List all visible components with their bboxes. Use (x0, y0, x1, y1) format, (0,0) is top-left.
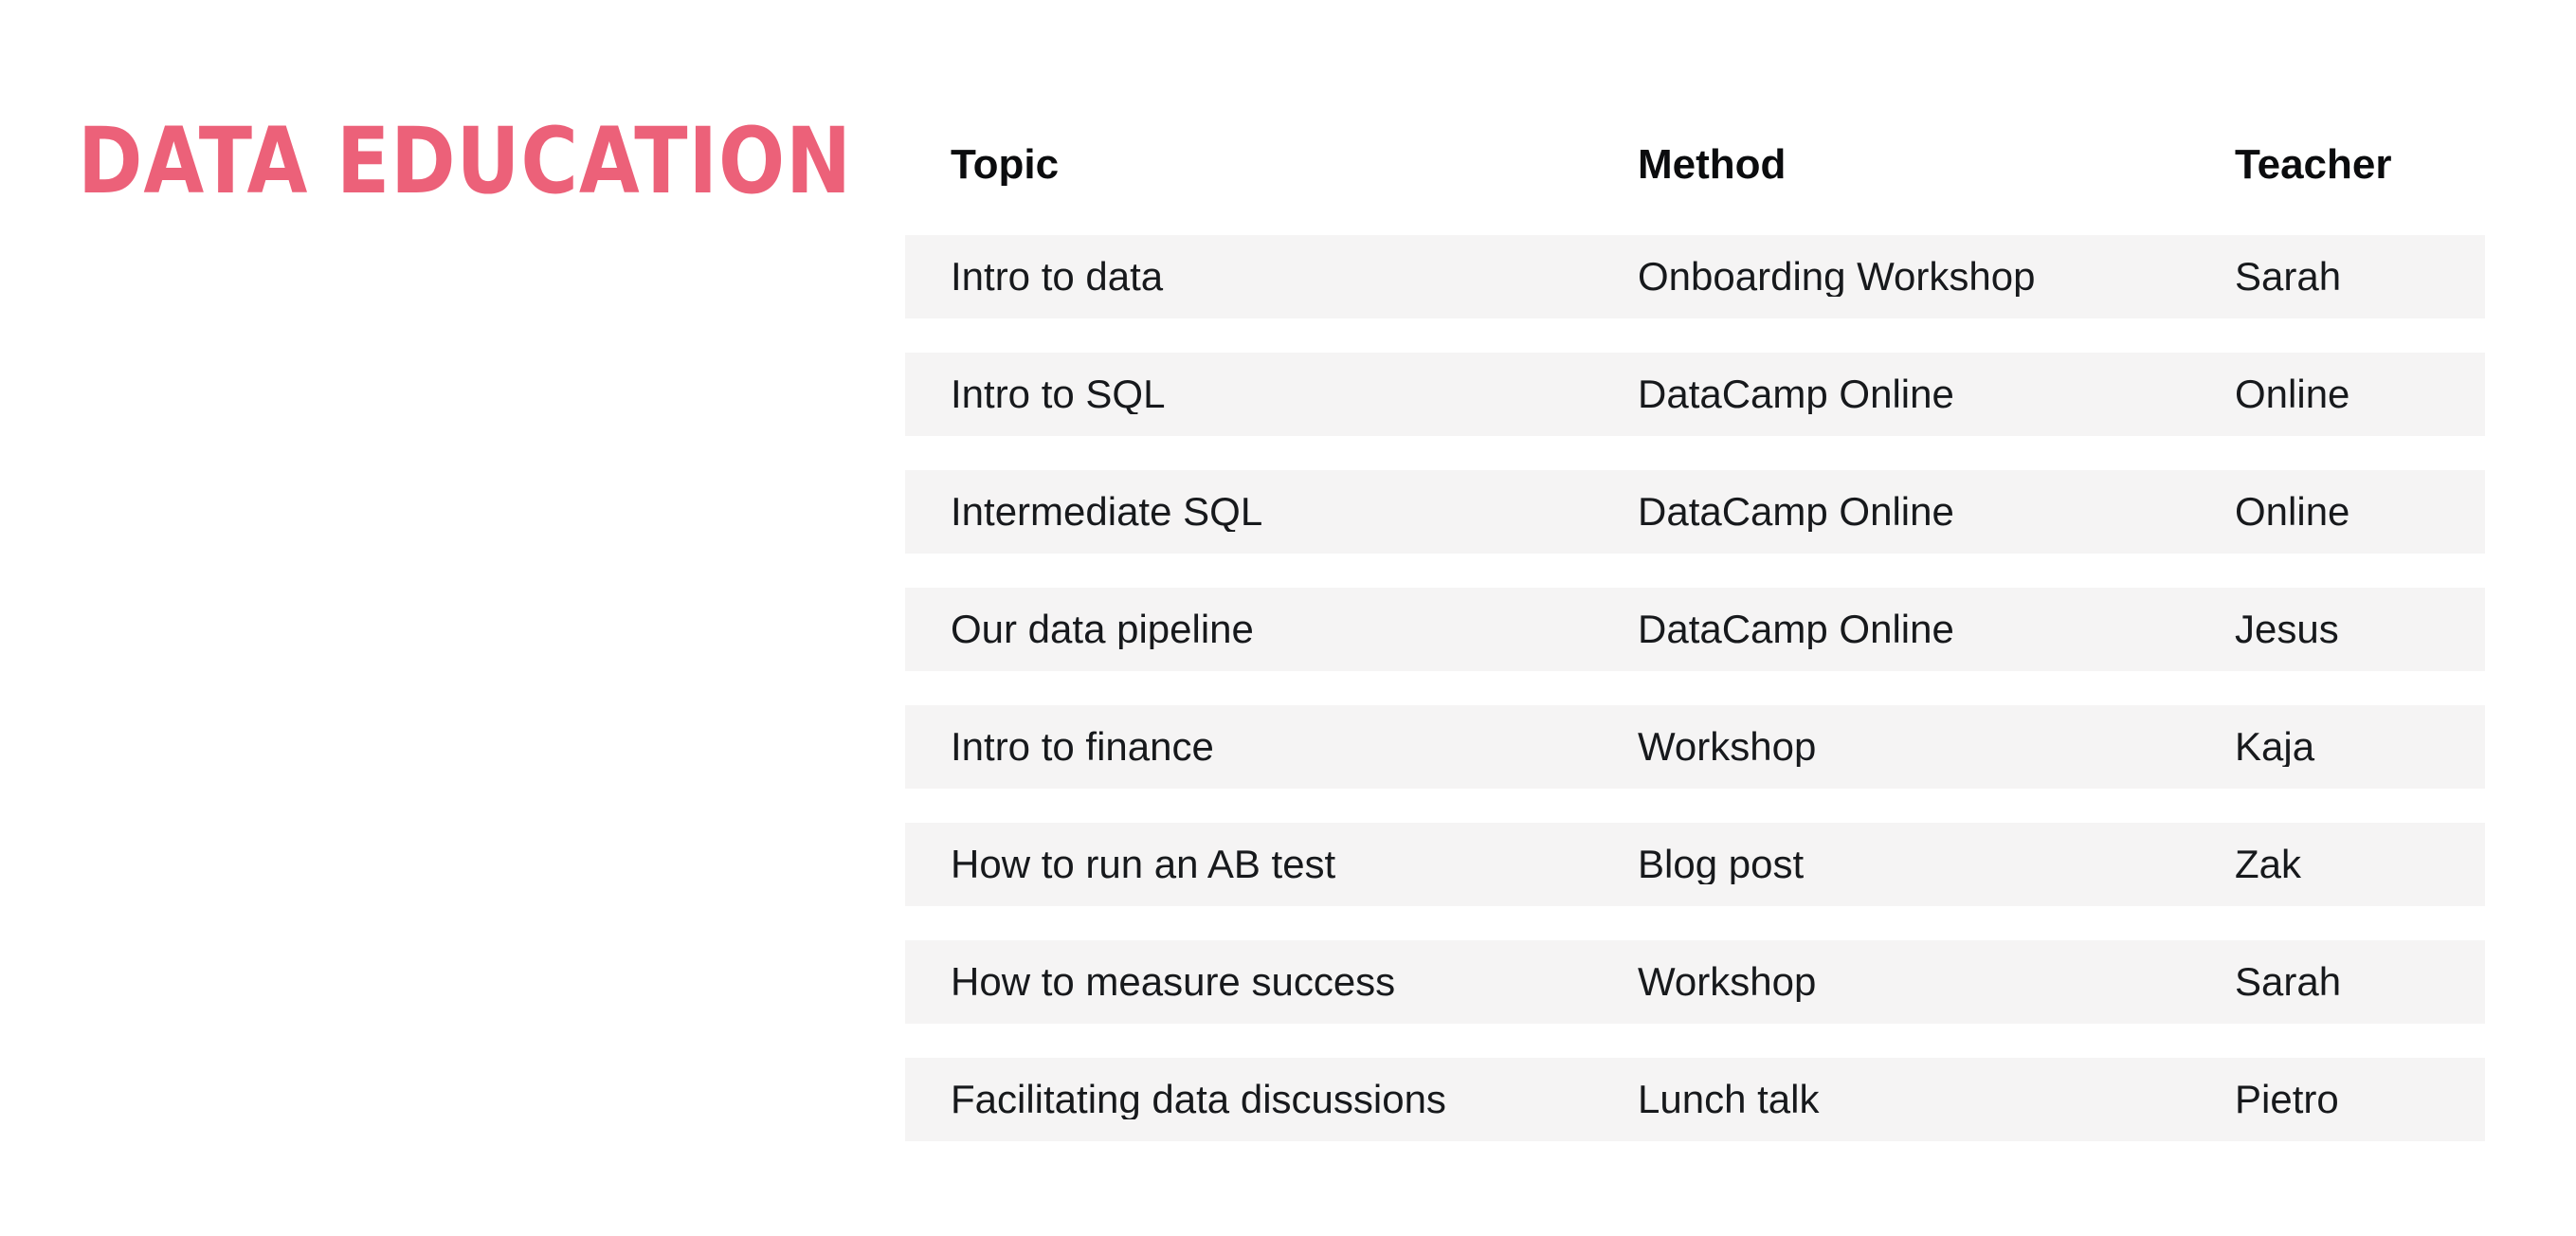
cell-topic: Intro to SQL (951, 374, 1638, 414)
cell-teacher: Kaja (2235, 727, 2485, 767)
cell-method: DataCamp Online (1638, 492, 2235, 532)
cell-teacher: Online (2235, 492, 2485, 532)
table-header-row: Topic Method Teacher (905, 129, 2485, 201)
table-row: Facilitating data discussionsLunch talkP… (905, 1058, 2485, 1141)
slide-canvas: DATA EDUCATION Topic Method Teacher Intr… (0, 0, 2576, 1236)
cell-teacher: Zak (2235, 845, 2485, 884)
table-row: Intro to SQLDataCamp OnlineOnline (905, 353, 2485, 436)
cell-topic: Facilitating data discussions (951, 1080, 1638, 1119)
cell-topic: How to measure success (951, 962, 1638, 1002)
cell-teacher: Jesus (2235, 609, 2485, 649)
cell-teacher: Online (2235, 374, 2485, 414)
table-row: Intermediate SQLDataCamp OnlineOnline (905, 470, 2485, 554)
cell-method: DataCamp Online (1638, 609, 2235, 649)
cell-method: Lunch talk (1638, 1080, 2235, 1119)
data-education-table: Topic Method Teacher Intro to dataOnboar… (905, 129, 2485, 1141)
cell-method: DataCamp Online (1638, 374, 2235, 414)
cell-topic: Intro to data (951, 257, 1638, 297)
cell-method: Blog post (1638, 845, 2235, 884)
table-row: Our data pipelineDataCamp OnlineJesus (905, 588, 2485, 671)
table-row: How to measure successWorkshopSarah (905, 940, 2485, 1024)
cell-topic: Our data pipeline (951, 609, 1638, 649)
cell-teacher: Pietro (2235, 1080, 2485, 1119)
cell-teacher: Sarah (2235, 257, 2485, 297)
table-body: Intro to dataOnboarding WorkshopSarahInt… (905, 235, 2485, 1141)
column-header-method: Method (1638, 144, 2235, 186)
table-row: How to run an AB testBlog postZak (905, 823, 2485, 906)
cell-teacher: Sarah (2235, 962, 2485, 1002)
column-header-topic: Topic (951, 144, 1638, 186)
column-header-teacher: Teacher (2235, 144, 2485, 186)
cell-method: Onboarding Workshop (1638, 257, 2235, 297)
page-title: DATA EDUCATION (78, 114, 730, 209)
table-row: Intro to dataOnboarding WorkshopSarah (905, 235, 2485, 318)
title-block: DATA EDUCATION (78, 114, 836, 209)
cell-topic: Intro to finance (951, 727, 1638, 767)
table-row: Intro to financeWorkshopKaja (905, 705, 2485, 789)
cell-topic: How to run an AB test (951, 845, 1638, 884)
cell-method: Workshop (1638, 727, 2235, 767)
cell-method: Workshop (1638, 962, 2235, 1002)
cell-topic: Intermediate SQL (951, 492, 1638, 532)
